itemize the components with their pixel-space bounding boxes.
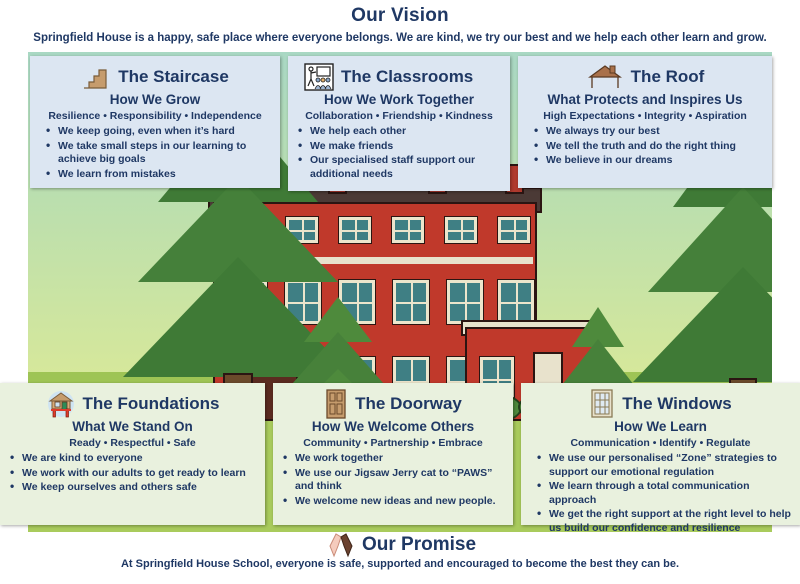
panel-title-row: The Staircase	[38, 62, 272, 92]
panel-title-row: The Doorway	[281, 389, 505, 419]
list-item: We work with our adults to get ready to …	[8, 467, 257, 481]
window-icon	[498, 217, 530, 243]
panel-title: The Foundations	[83, 394, 220, 414]
panel-points: We help each other We make friends Our s…	[296, 125, 502, 181]
panel-values: Resilience • Responsibility • Independen…	[38, 109, 272, 123]
classroom-icon	[304, 63, 334, 91]
panel-title: The Classrooms	[341, 67, 473, 87]
list-item: We get the right support at the right le…	[529, 508, 792, 535]
panel-subtitle: What We Stand On	[8, 418, 257, 435]
roof-icon	[586, 63, 624, 91]
list-item: Our specialised staff support our additi…	[296, 154, 502, 181]
panel-values: Collaboration • Friendship • Kindness	[296, 109, 502, 123]
promise-title-row: Our Promise	[28, 532, 772, 558]
promise-statement: At Springfield House School, everyone is…	[28, 558, 772, 571]
panel-title: The Doorway	[355, 394, 462, 414]
list-item: We learn through a total communication a…	[529, 480, 792, 507]
panel-subtitle: How We Grow	[38, 91, 272, 108]
window-icon	[589, 389, 615, 419]
panel-title: The Staircase	[118, 67, 229, 87]
panel-values: High Expectations • Integrity • Aspirati…	[526, 109, 764, 123]
list-item: We tell the truth and do the right thing	[526, 140, 764, 154]
list-item: We are kind to everyone	[8, 452, 257, 466]
panel-points: We keep going, even when it’s hard We ta…	[38, 125, 272, 181]
window-icon	[447, 280, 483, 324]
panel-title-row: The Classrooms	[296, 62, 502, 92]
page-title: Our Vision	[28, 0, 772, 28]
staircase-icon	[81, 64, 111, 90]
panel-title-row: The Foundations	[8, 389, 257, 419]
panel-windows: The Windows How We Learn Communication •…	[521, 383, 800, 525]
list-item: We always try our best	[526, 125, 764, 139]
list-item: We learn from mistakes	[38, 168, 272, 182]
vision-statement: Springfield House is a happy, safe place…	[28, 28, 772, 46]
promise-title: Our Promise	[362, 534, 476, 556]
list-item: We welcome new ideas and new people.	[281, 495, 505, 509]
panel-staircase: The Staircase How We Grow Resilience • R…	[30, 56, 280, 188]
vision-poster: Our Vision Springfield House is a happy,…	[0, 0, 800, 584]
house-on-stilts-icon	[46, 390, 76, 418]
panel-title-row: The Roof	[526, 62, 764, 92]
panel-subtitle: How We Learn	[529, 418, 792, 435]
door-icon	[324, 389, 348, 419]
panel-foundations: The Foundations What We Stand On Ready •…	[0, 383, 265, 525]
panel-points: We use our personalised “Zone” strategie…	[529, 452, 792, 535]
panel-classrooms: The Classrooms How We Work Together Coll…	[288, 56, 510, 191]
list-item: We make friends	[296, 140, 502, 154]
list-item: We use our Jigsaw Jerry cat to “PAWS” an…	[281, 467, 505, 494]
panel-values: Communication • Identify • Regulate	[529, 436, 792, 450]
window-icon	[392, 217, 424, 243]
panel-title-row: The Windows	[529, 389, 792, 419]
panel-points: We work together We use our Jigsaw Jerry…	[281, 452, 505, 508]
list-item: We use our personalised “Zone” strategie…	[529, 452, 792, 479]
list-item: We take small steps in our learning to a…	[38, 140, 272, 167]
panel-title: The Roof	[631, 67, 705, 87]
panel-points: We are kind to everyone We work with our…	[8, 452, 257, 495]
list-item: We keep going, even when it’s hard	[38, 125, 272, 139]
list-item: We believe in our dreams	[526, 154, 764, 168]
window-icon	[445, 217, 477, 243]
panel-roof: The Roof What Protects and Inspires Us H…	[518, 56, 772, 188]
header: Our Vision Springfield House is a happy,…	[28, 0, 772, 52]
list-item: We work together	[281, 452, 505, 466]
panel-title: The Windows	[622, 394, 731, 414]
panel-subtitle: How We Work Together	[296, 91, 502, 108]
panel-subtitle: What Protects and Inspires Us	[526, 91, 764, 108]
window-icon	[393, 280, 429, 324]
footer: Our Promise At Springfield House School,…	[28, 532, 772, 584]
panel-values: Community • Partnership • Embrace	[281, 436, 505, 450]
panel-points: We always try our best We tell the truth…	[526, 125, 764, 168]
window-icon	[498, 280, 534, 324]
panel-subtitle: How We Welcome Others	[281, 418, 505, 435]
list-item: We keep ourselves and others safe	[8, 481, 257, 495]
panel-doorway: The Doorway How We Welcome Others Commun…	[273, 383, 513, 525]
list-item: We help each other	[296, 125, 502, 139]
panel-values: Ready • Respectful • Safe	[8, 436, 257, 450]
handshake-icon	[324, 532, 358, 558]
